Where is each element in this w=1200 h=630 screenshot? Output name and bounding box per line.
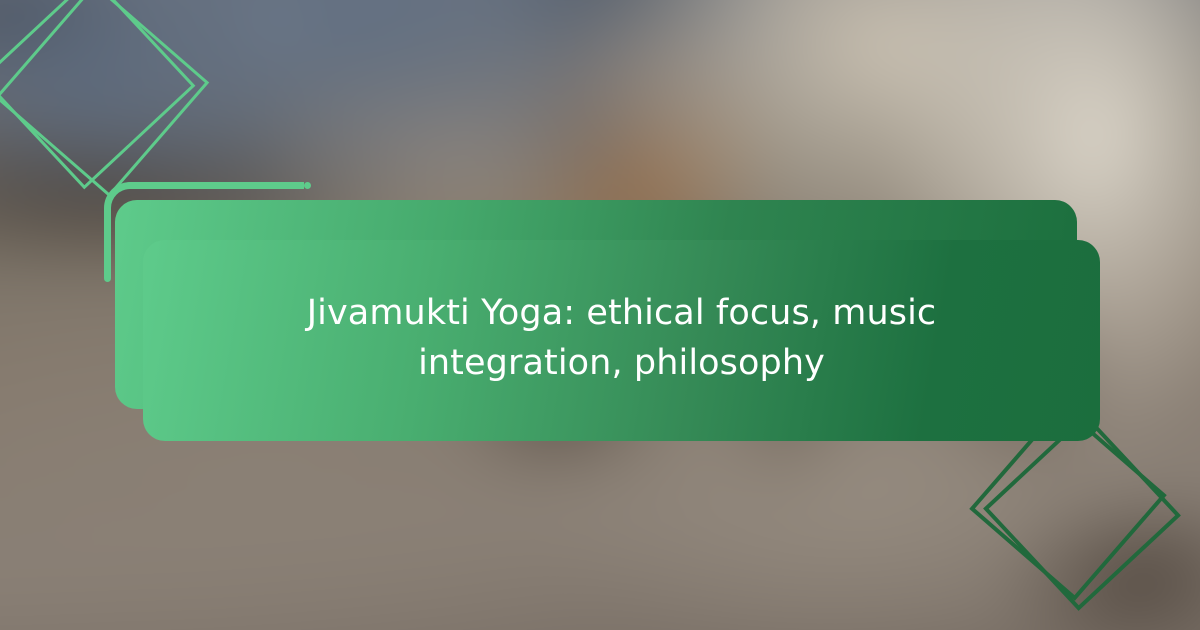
card-title: Jivamukti Yoga: ethical focus, music int… bbox=[262, 289, 982, 388]
title-card: Jivamukti Yoga: ethical focus, music int… bbox=[143, 240, 1100, 441]
decoration-bottom-right bbox=[970, 420, 1200, 630]
social-card-canvas: Jivamukti Yoga: ethical focus, music int… bbox=[0, 0, 1200, 630]
diamond-outline-icon bbox=[983, 413, 1181, 611]
